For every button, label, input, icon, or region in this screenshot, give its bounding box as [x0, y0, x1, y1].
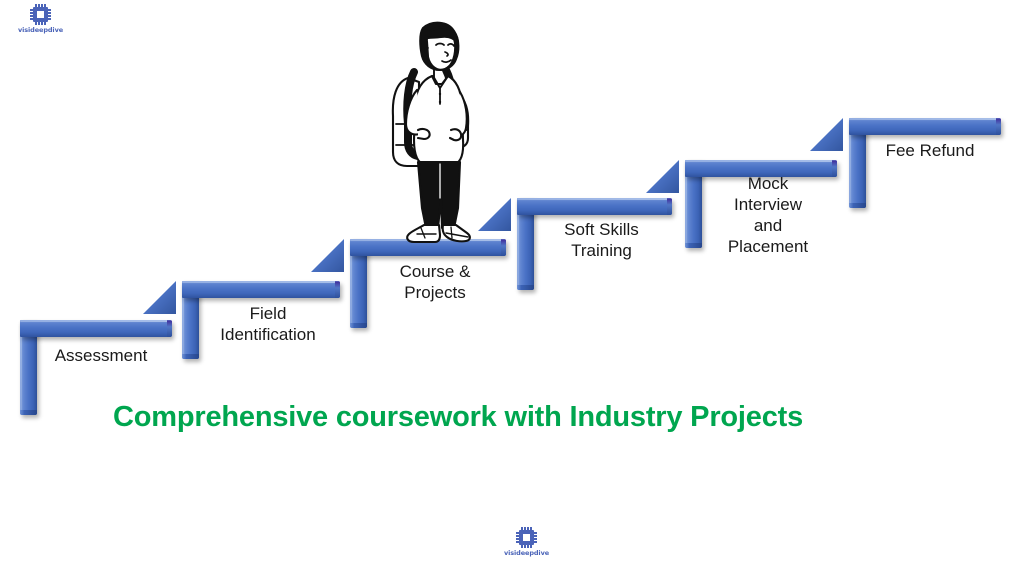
brand-logo-bottom: visideepdive	[504, 527, 549, 557]
page-headline: Comprehensive coursework with Industry P…	[113, 401, 803, 434]
step-5-label: Mock Interview and Placement	[690, 173, 846, 257]
step-2-wedge-icon	[143, 281, 176, 314]
step-2-tread	[182, 281, 340, 298]
step-6-wedge-icon	[810, 118, 843, 151]
step-6-label: Fee Refund	[855, 140, 1005, 161]
step-2-label: Field Identification	[188, 303, 348, 345]
step-1-tread	[20, 320, 172, 337]
step-1-label: Assessment	[26, 345, 176, 366]
step-4-label: Soft Skills Training	[523, 219, 680, 261]
microchip-icon	[516, 527, 537, 548]
microchip-icon	[30, 4, 51, 25]
brand-logo-top: visideepdive	[18, 4, 63, 34]
student-with-backpack-illustration	[372, 12, 492, 247]
step-6-tread	[849, 118, 1001, 135]
brand-logo-text: visideepdive	[504, 549, 549, 557]
step-4-tread	[517, 198, 672, 215]
slide-canvas: visideepdive Assessment Field Identifica…	[0, 0, 1024, 576]
step-5-wedge-icon	[646, 160, 679, 193]
step-3-wedge-icon	[311, 239, 344, 272]
step-3-label: Course & Projects	[356, 261, 514, 303]
brand-logo-text: visideepdive	[18, 26, 63, 34]
